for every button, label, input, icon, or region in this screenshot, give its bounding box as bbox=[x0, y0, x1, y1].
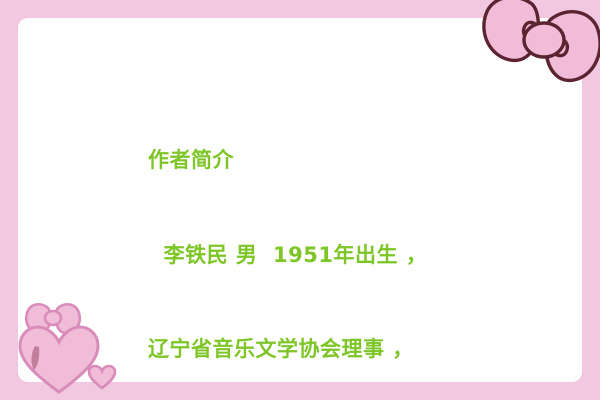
author-bio-text: 作者简介 李铁民 男 1951年出生 ， 辽宁省音乐文学协会理事 ， 近年来在《… bbox=[148, 82, 578, 400]
bio-line-2: 李铁民 男 1951年出生 ， bbox=[148, 240, 578, 272]
greeting-card: 作者简介 李铁民 男 1951年出生 ， 辽宁省音乐文学协会理事 ， 近年来在《… bbox=[0, 0, 600, 400]
bio-line-1: 作者简介 bbox=[148, 145, 578, 177]
bio-line-3: 辽宁省音乐文学协会理事 ， bbox=[148, 334, 578, 366]
